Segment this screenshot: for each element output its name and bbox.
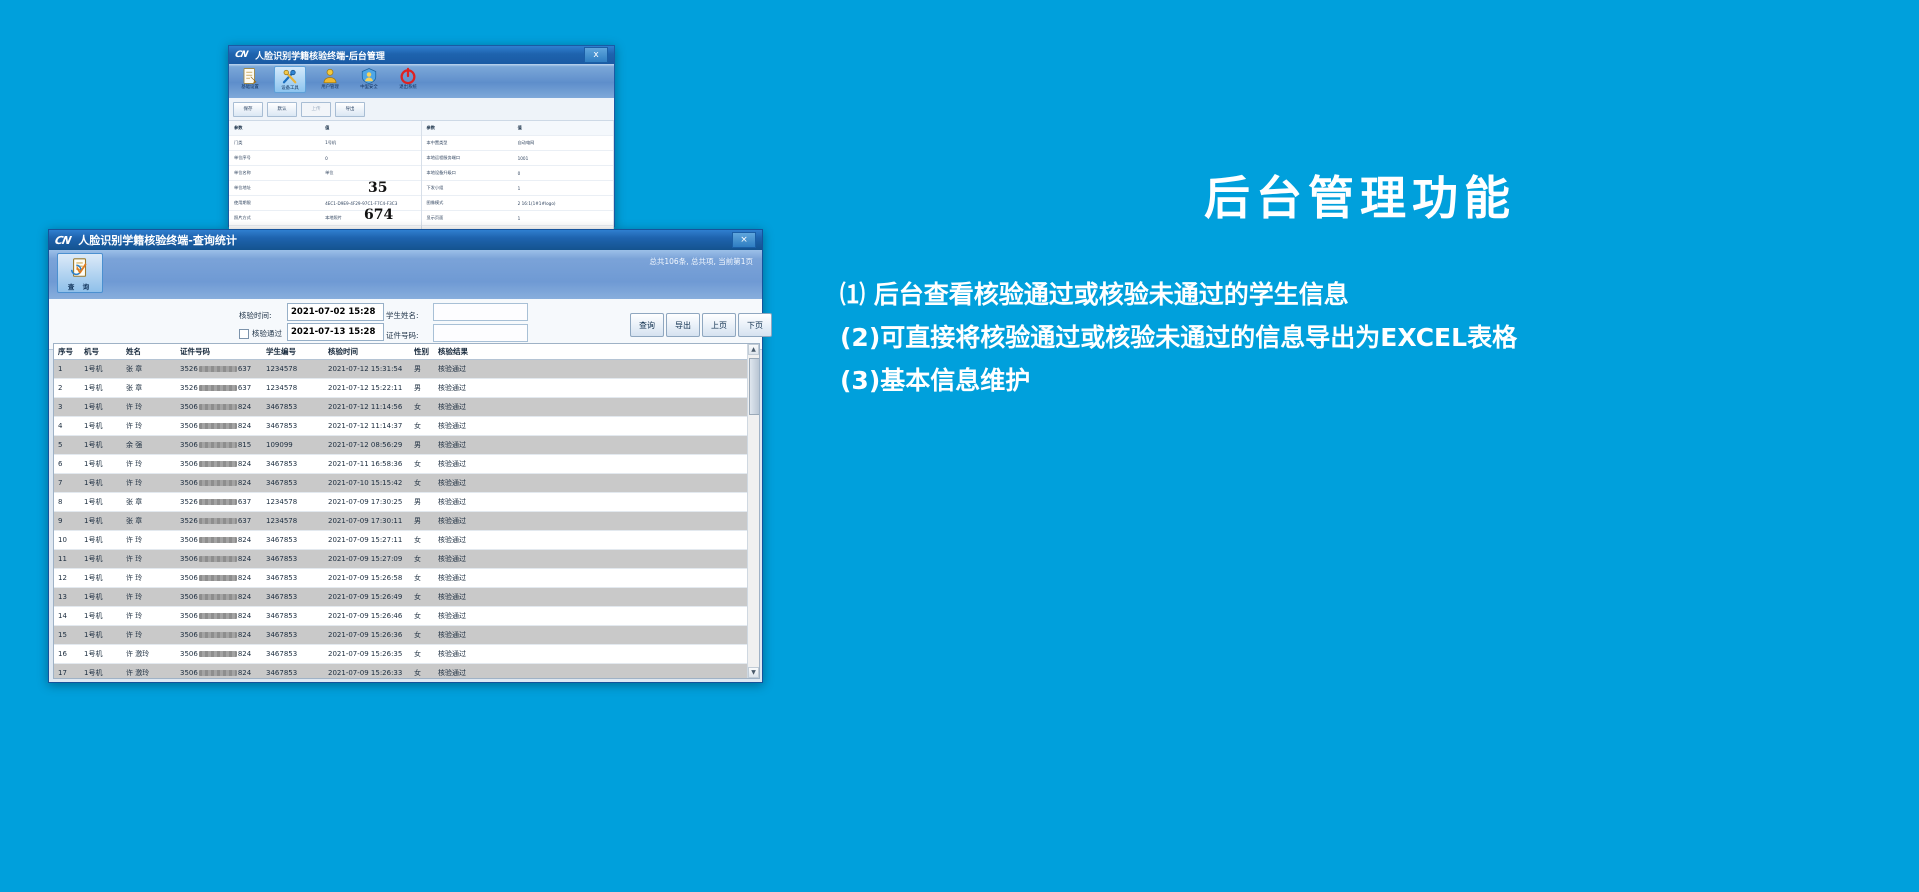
table-row[interactable]: 61号机许 玲350682434678532021-07-11 16:58:36… bbox=[54, 455, 759, 474]
table-row[interactable]: 111号机许 玲350682434678532021-07-09 15:27:0… bbox=[54, 550, 759, 569]
bg-export-button[interactable]: 导出 bbox=[335, 102, 365, 117]
cell-student-no: 1234578 bbox=[262, 498, 324, 506]
cell-id-number: 3526637 bbox=[176, 498, 262, 506]
query-button[interactable]: 查 询 bbox=[57, 253, 103, 293]
cell-machine: 1号机 bbox=[80, 459, 122, 469]
toolbar-item-security[interactable]: 中里安全 bbox=[354, 66, 384, 91]
cell-machine: 1号机 bbox=[80, 440, 122, 450]
overlay-number-674: 674 bbox=[364, 207, 393, 223]
cell-student-no: 3467853 bbox=[262, 422, 324, 430]
query-document-icon bbox=[69, 257, 91, 279]
tools-icon bbox=[281, 68, 299, 86]
cell-name: 许 玲 bbox=[122, 611, 176, 621]
col-param: 参数 bbox=[422, 125, 515, 131]
cell-student-no: 109099 bbox=[262, 441, 324, 449]
query-window-close-button[interactable]: × bbox=[732, 232, 756, 248]
cell-id-number: 3506824 bbox=[176, 574, 262, 582]
cell-name: 许 玲 bbox=[122, 573, 176, 583]
cell-gender: 男 bbox=[410, 383, 434, 393]
table-row[interactable]: 单位序号0 bbox=[229, 151, 421, 166]
cell-index: 6 bbox=[54, 460, 80, 468]
cell-student-no: 3467853 bbox=[262, 479, 324, 487]
exit-icon bbox=[399, 67, 417, 85]
background-admin-window[interactable]: CN 人脸识别学籍核验终端-后台管理 x 基础设置 bbox=[228, 45, 615, 227]
cell-name: 许 激玲 bbox=[122, 649, 176, 659]
student-name-input[interactable] bbox=[433, 303, 528, 321]
cell-machine: 1号机 bbox=[80, 649, 122, 659]
right-text-panel: 后台管理功能 ⑴ 后台查看核验通过或核验未通过的学生信息 (2)可直接将核验通过… bbox=[840, 175, 1880, 402]
cell-machine: 1号机 bbox=[80, 630, 122, 640]
cell-verify-time: 2021-07-09 15:26:49 bbox=[324, 593, 410, 601]
cell-id-number: 3526637 bbox=[176, 517, 262, 525]
verify-time-from-input[interactable]: 2021-07-02 15:28 bbox=[287, 303, 384, 321]
query-button-label: 查 询 bbox=[58, 281, 102, 291]
cell-verify-time: 2021-07-12 15:31:54 bbox=[324, 365, 410, 373]
param-value: 1001 bbox=[515, 156, 613, 161]
param-key: 单位地址 bbox=[229, 185, 322, 191]
cell-gender: 男 bbox=[410, 516, 434, 526]
search-button[interactable]: 查询 bbox=[630, 313, 664, 337]
cell-name: 许 玲 bbox=[122, 535, 176, 545]
cell-result: 核验通过 bbox=[434, 421, 496, 431]
table-row[interactable]: 单位地址 bbox=[229, 181, 421, 196]
cell-id-number: 3506824 bbox=[176, 536, 262, 544]
col-index: 序号 bbox=[54, 346, 80, 357]
cell-id-number: 3506824 bbox=[176, 403, 262, 411]
col-name: 姓名 bbox=[122, 346, 176, 357]
cell-student-no: 3467853 bbox=[262, 403, 324, 411]
cell-name: 张 章 bbox=[122, 383, 176, 393]
table-row[interactable]: 11号机张 章352663712345782021-07-12 15:31:54… bbox=[54, 360, 759, 379]
cell-name: 张 章 bbox=[122, 497, 176, 507]
cell-name: 许 玲 bbox=[122, 592, 176, 602]
param-value: 4EC1-D9E9-4F29-97C1-F7C4-F3C3 bbox=[322, 201, 420, 206]
cell-gender: 女 bbox=[410, 535, 434, 545]
cell-id-number: 3506824 bbox=[176, 669, 262, 677]
cell-machine: 1号机 bbox=[80, 497, 122, 507]
param-value: 1号机 bbox=[322, 140, 420, 146]
cell-gender: 男 bbox=[410, 440, 434, 450]
cell-result: 核验通过 bbox=[434, 573, 496, 583]
cell-machine: 1号机 bbox=[80, 364, 122, 374]
cell-index: 1 bbox=[54, 365, 80, 373]
param-value: 自动电网 bbox=[515, 140, 613, 146]
shield-user-icon bbox=[360, 67, 378, 85]
table-body: 11号机张 章352663712345782021-07-12 15:31:54… bbox=[54, 360, 759, 679]
brand-logo-icon: CN bbox=[234, 50, 248, 60]
background-window-title: 人脸识别学籍核验终端-后台管理 bbox=[255, 49, 385, 62]
toolbar-label: 基础设置 bbox=[235, 85, 265, 91]
cell-name: 许 激玲 bbox=[122, 668, 176, 678]
table-row[interactable]: 141号机许 玲350682434678532021-07-09 15:26:4… bbox=[54, 607, 759, 626]
table-row[interactable]: 门类1号机 bbox=[229, 136, 421, 151]
cell-result: 核验通过 bbox=[434, 497, 496, 507]
table-row[interactable]: 91号机张 章352663712345782021-07-09 17:30:11… bbox=[54, 512, 759, 531]
param-value: 1 bbox=[515, 216, 613, 221]
cell-index: 13 bbox=[54, 593, 80, 601]
table-row[interactable]: 本地设备升级口0 bbox=[422, 166, 614, 181]
table-header-row: 序号 机号 姓名 证件号码 学生编号 核验时间 性别 核验结果 bbox=[54, 344, 759, 360]
param-key: 门类 bbox=[229, 140, 322, 146]
cell-result: 核验通过 bbox=[434, 649, 496, 659]
background-toolbar: 基础设置 设备工具 用户管理 bbox=[229, 64, 614, 98]
cell-verify-time: 2021-07-09 15:27:11 bbox=[324, 536, 410, 544]
cell-id-number: 3526637 bbox=[176, 384, 262, 392]
table-row[interactable]: 121号机许 玲350682434678532021-07-09 15:26:5… bbox=[54, 569, 759, 588]
query-window-title-bar[interactable]: CN 人脸识别学籍核验终端-查询统计 × bbox=[49, 230, 762, 250]
cell-student-no: 3467853 bbox=[262, 631, 324, 639]
cell-gender: 女 bbox=[410, 649, 434, 659]
cell-gender: 女 bbox=[410, 402, 434, 412]
cell-gender: 男 bbox=[410, 497, 434, 507]
param-value: 单位 bbox=[322, 170, 420, 176]
cell-verify-time: 2021-07-09 17:30:11 bbox=[324, 517, 410, 525]
cell-verify-time: 2021-07-10 15:15:42 bbox=[324, 479, 410, 487]
cell-name: 张 章 bbox=[122, 364, 176, 374]
cell-index: 17 bbox=[54, 669, 80, 677]
verify-pass-checkbox[interactable]: 核验通过 bbox=[239, 328, 282, 339]
cell-index: 3 bbox=[54, 403, 80, 411]
next-page-button[interactable]: 下页 bbox=[738, 313, 772, 337]
toolbar-label: 中里安全 bbox=[354, 85, 384, 91]
param-value: 0 bbox=[515, 171, 613, 176]
cell-name: 许 玲 bbox=[122, 459, 176, 469]
cell-gender: 女 bbox=[410, 630, 434, 640]
cell-machine: 1号机 bbox=[80, 592, 122, 602]
background-window-title-bar[interactable]: CN 人脸识别学籍核验终端-后台管理 x bbox=[229, 46, 614, 64]
cell-id-number: 3526637 bbox=[176, 365, 262, 373]
cell-id-number: 3506824 bbox=[176, 460, 262, 468]
cell-machine: 1号机 bbox=[80, 402, 122, 412]
param-key: 本地运程服务端口 bbox=[422, 155, 515, 161]
scroll-up-arrow[interactable]: ▲ bbox=[748, 344, 759, 355]
table-header-row: 参数 值 bbox=[422, 121, 614, 136]
table-row[interactable]: 21号机张 章352663712345782021-07-12 15:22:11… bbox=[54, 379, 759, 398]
col-time: 核验时间 bbox=[324, 346, 410, 357]
table-row[interactable]: 本中置类型自动电网 bbox=[422, 136, 614, 151]
cell-name: 许 玲 bbox=[122, 630, 176, 640]
id-number-input[interactable] bbox=[433, 324, 528, 342]
cell-verify-time: 2021-07-09 15:26:36 bbox=[324, 631, 410, 639]
table-row[interactable]: 171号机许 激玲350682434678532021-07-09 15:26:… bbox=[54, 664, 759, 679]
cell-index: 5 bbox=[54, 441, 80, 449]
table-row[interactable]: 81号机张 章352663712345782021-07-09 17:30:25… bbox=[54, 493, 759, 512]
overlay-number-35: 35 bbox=[368, 180, 387, 196]
checkbox-box[interactable] bbox=[239, 329, 249, 339]
cell-result: 核验通过 bbox=[434, 668, 496, 678]
param-value: 1 bbox=[515, 186, 613, 191]
document-settings-icon bbox=[241, 67, 259, 85]
cell-verify-time: 2021-07-09 17:30:25 bbox=[324, 498, 410, 506]
cell-result: 核验通过 bbox=[434, 440, 496, 450]
cell-name: 许 玲 bbox=[122, 478, 176, 488]
cell-verify-time: 2021-07-11 16:58:36 bbox=[324, 460, 410, 468]
cell-gender: 女 bbox=[410, 611, 434, 621]
table-row[interactable]: 71号机许 玲350682434678532021-07-10 15:15:42… bbox=[54, 474, 759, 493]
cell-gender: 女 bbox=[410, 459, 434, 469]
cell-machine: 1号机 bbox=[80, 383, 122, 393]
cell-result: 核验通过 bbox=[434, 383, 496, 393]
cell-id-number: 3506824 bbox=[176, 479, 262, 487]
cell-student-no: 3467853 bbox=[262, 669, 324, 677]
cell-result: 核验通过 bbox=[434, 364, 496, 374]
bg-save-button[interactable]: 保存 bbox=[233, 102, 263, 117]
table-row[interactable]: 下发小组1 bbox=[422, 181, 614, 196]
verify-time-label: 核验时间: bbox=[239, 310, 272, 321]
toolbar-item-basic-settings[interactable]: 基础设置 bbox=[235, 66, 265, 91]
cell-gender: 女 bbox=[410, 478, 434, 488]
bg-upload-button: 上传 bbox=[301, 102, 331, 117]
cell-id-number: 3506815 bbox=[176, 441, 262, 449]
cell-index: 2 bbox=[54, 384, 80, 392]
student-name-label: 学生姓名: bbox=[386, 310, 419, 321]
cell-verify-time: 2021-07-12 08:56:29 bbox=[324, 441, 410, 449]
col-value: 值 bbox=[322, 125, 420, 131]
cell-index: 16 bbox=[54, 650, 80, 658]
cell-gender: 女 bbox=[410, 668, 434, 678]
cell-index: 10 bbox=[54, 536, 80, 544]
cell-index: 15 bbox=[54, 631, 80, 639]
table-row[interactable]: 101号机许 玲350682434678532021-07-09 15:27:1… bbox=[54, 531, 759, 550]
cell-student-no: 1234578 bbox=[262, 517, 324, 525]
cell-index: 9 bbox=[54, 517, 80, 525]
cell-index: 14 bbox=[54, 612, 80, 620]
cell-machine: 1号机 bbox=[80, 668, 122, 678]
cell-name: 许 玲 bbox=[122, 421, 176, 431]
query-toolbar: 查 询 总共106条, 总共项, 当前第1页 bbox=[49, 250, 762, 299]
cell-student-no: 3467853 bbox=[262, 574, 324, 582]
panel-title: 后台管理功能 bbox=[840, 175, 1880, 221]
toolbar-label: 设备工具 bbox=[275, 86, 305, 92]
cell-machine: 1号机 bbox=[80, 554, 122, 564]
query-statistics-window[interactable]: CN 人脸识别学籍核验终端-查询统计 × 查 询 总共106条, 总共项, 当前… bbox=[48, 229, 763, 683]
cell-machine: 1号机 bbox=[80, 421, 122, 431]
cell-result: 核验通过 bbox=[434, 630, 496, 640]
col-id: 证件号码 bbox=[176, 346, 262, 357]
slide-canvas: CN 人脸识别学籍核验终端-后台管理 x 基础设置 bbox=[0, 0, 1919, 892]
param-key: 图像模式 bbox=[422, 200, 515, 206]
table-row[interactable]: 本地运程服务端口1001 bbox=[422, 151, 614, 166]
cell-verify-time: 2021-07-12 11:14:56 bbox=[324, 403, 410, 411]
verify-pass-label: 核验通过 bbox=[252, 328, 282, 339]
cell-index: 7 bbox=[54, 479, 80, 487]
param-key: 单位序号 bbox=[229, 155, 322, 161]
background-subbar: 保存 默认 上传 导出 bbox=[229, 98, 614, 121]
cell-verify-time: 2021-07-12 11:14:37 bbox=[324, 422, 410, 430]
cell-index: 11 bbox=[54, 555, 80, 563]
feature-line-3: (3)基本信息维护 bbox=[840, 359, 1880, 402]
cell-index: 4 bbox=[54, 422, 80, 430]
col-machine: 机号 bbox=[80, 346, 122, 357]
cell-verify-time: 2021-07-09 15:26:46 bbox=[324, 612, 410, 620]
table-row[interactable]: 41号机许 玲350682434678532021-07-12 11:14:37… bbox=[54, 417, 759, 436]
col-value: 值 bbox=[515, 125, 613, 131]
table-scrollbar[interactable]: ▲ ▼ bbox=[747, 344, 759, 678]
verification-records-table[interactable]: 序号 机号 姓名 证件号码 学生编号 核验时间 性别 核验结果 11号机张 章3… bbox=[53, 343, 760, 679]
cell-verify-time: 2021-07-09 15:26:33 bbox=[324, 669, 410, 677]
cell-gender: 女 bbox=[410, 592, 434, 602]
verify-time-to-input[interactable]: 2021-07-13 15:28 bbox=[287, 323, 384, 341]
cell-name: 许 玲 bbox=[122, 554, 176, 564]
table-row[interactable]: 151号机许 玲350682434678532021-07-09 15:26:3… bbox=[54, 626, 759, 645]
col-student-no: 学生编号 bbox=[262, 346, 324, 357]
table-row[interactable]: 单位名称单位 bbox=[229, 166, 421, 181]
cell-verify-time: 2021-07-09 15:27:09 bbox=[324, 555, 410, 563]
cell-id-number: 3506824 bbox=[176, 612, 262, 620]
cell-result: 核验通过 bbox=[434, 478, 496, 488]
cell-result: 核验通过 bbox=[434, 592, 496, 602]
cell-gender: 女 bbox=[410, 421, 434, 431]
cell-id-number: 3506824 bbox=[176, 555, 262, 563]
table-row[interactable]: 显示页面1 bbox=[422, 211, 614, 226]
cell-verify-time: 2021-07-09 15:26:58 bbox=[324, 574, 410, 582]
cell-result: 核验通过 bbox=[434, 554, 496, 564]
cell-machine: 1号机 bbox=[80, 478, 122, 488]
cell-verify-time: 2021-07-09 15:26:35 bbox=[324, 650, 410, 658]
col-result: 核验结果 bbox=[434, 346, 496, 357]
cell-name: 张 章 bbox=[122, 516, 176, 526]
background-window-close-button[interactable]: x bbox=[584, 47, 608, 63]
param-key: 单位名称 bbox=[229, 170, 322, 176]
param-value: 0 bbox=[322, 156, 420, 161]
bg-default-button[interactable]: 默认 bbox=[267, 102, 297, 117]
cell-index: 8 bbox=[54, 498, 80, 506]
export-button[interactable]: 导出 bbox=[666, 313, 700, 337]
cell-student-no: 3467853 bbox=[262, 612, 324, 620]
cell-result: 核验通过 bbox=[434, 535, 496, 545]
table-row[interactable]: 图像模式2 16:1(1#1#logo) bbox=[422, 196, 614, 211]
cell-machine: 1号机 bbox=[80, 516, 122, 526]
cell-id-number: 3506824 bbox=[176, 593, 262, 601]
param-key: 照片方式 bbox=[229, 215, 322, 221]
feature-line-2: (2)可直接将核验通过或核验未通过的信息导出为EXCEL表格 bbox=[840, 316, 1880, 359]
cell-machine: 1号机 bbox=[80, 611, 122, 621]
toolbar-label: 退出系统 bbox=[393, 85, 423, 91]
table-row[interactable]: 161号机许 激玲350682434678532021-07-09 15:26:… bbox=[54, 645, 759, 664]
cell-student-no: 3467853 bbox=[262, 650, 324, 658]
col-gender: 性别 bbox=[410, 346, 434, 357]
cell-student-no: 3467853 bbox=[262, 536, 324, 544]
table-row[interactable]: 31号机许 玲350682434678532021-07-12 11:14:56… bbox=[54, 398, 759, 417]
user-icon bbox=[321, 67, 339, 85]
cell-gender: 男 bbox=[410, 364, 434, 374]
param-value: 2 16:1(1#1#logo) bbox=[515, 201, 613, 206]
param-key: 本中置类型 bbox=[422, 140, 515, 146]
param-key: 显示页面 bbox=[422, 215, 515, 221]
toolbar-item-exit[interactable]: 退出系统 bbox=[393, 66, 423, 91]
toolbar-label: 用户管理 bbox=[315, 85, 345, 91]
param-key: 使用期限 bbox=[229, 200, 322, 206]
id-number-label: 证件号码: bbox=[386, 330, 419, 341]
cell-student-no: 3467853 bbox=[262, 593, 324, 601]
cell-machine: 1号机 bbox=[80, 535, 122, 545]
param-key: 下发小组 bbox=[422, 185, 515, 191]
feature-line-1: ⑴ 后台查看核验通过或核验未通过的学生信息 bbox=[840, 273, 1880, 316]
cell-result: 核验通过 bbox=[434, 459, 496, 469]
cell-result: 核验通过 bbox=[434, 516, 496, 526]
cell-id-number: 3506824 bbox=[176, 422, 262, 430]
cell-index: 12 bbox=[54, 574, 80, 582]
cell-gender: 女 bbox=[410, 554, 434, 564]
col-param: 参数 bbox=[229, 125, 322, 131]
cell-machine: 1号机 bbox=[80, 573, 122, 583]
cell-student-no: 3467853 bbox=[262, 460, 324, 468]
cell-result: 核验通过 bbox=[434, 402, 496, 412]
cell-id-number: 3506824 bbox=[176, 631, 262, 639]
toolbar-item-device-tools[interactable]: 设备工具 bbox=[274, 66, 306, 93]
cell-id-number: 3506824 bbox=[176, 650, 262, 658]
cell-student-no: 1234578 bbox=[262, 384, 324, 392]
table-header-row: 参数 值 bbox=[229, 121, 421, 136]
scroll-down-arrow[interactable]: ▼ bbox=[748, 667, 759, 678]
cell-name: 许 玲 bbox=[122, 402, 176, 412]
table-row[interactable]: 51号机余 强35068151090992021-07-12 08:56:29男… bbox=[54, 436, 759, 455]
cell-student-no: 3467853 bbox=[262, 555, 324, 563]
table-row[interactable]: 131号机许 玲350682434678532021-07-09 15:26:4… bbox=[54, 588, 759, 607]
cell-student-no: 1234578 bbox=[262, 365, 324, 373]
param-key: 本地设备升级口 bbox=[422, 170, 515, 176]
scrollbar-thumb[interactable] bbox=[749, 358, 760, 415]
record-count-status: 总共106条, 总共项, 当前第1页 bbox=[649, 256, 753, 267]
toolbar-item-user-management[interactable]: 用户管理 bbox=[315, 66, 345, 91]
query-window-title: 人脸识别学籍核验终端-查询统计 bbox=[78, 232, 237, 248]
cell-gender: 女 bbox=[410, 573, 434, 583]
cell-result: 核验通过 bbox=[434, 611, 496, 621]
cell-verify-time: 2021-07-12 15:22:11 bbox=[324, 384, 410, 392]
cell-name: 余 强 bbox=[122, 440, 176, 450]
prev-page-button[interactable]: 上页 bbox=[702, 313, 736, 337]
brand-logo-icon: CN bbox=[54, 234, 72, 247]
